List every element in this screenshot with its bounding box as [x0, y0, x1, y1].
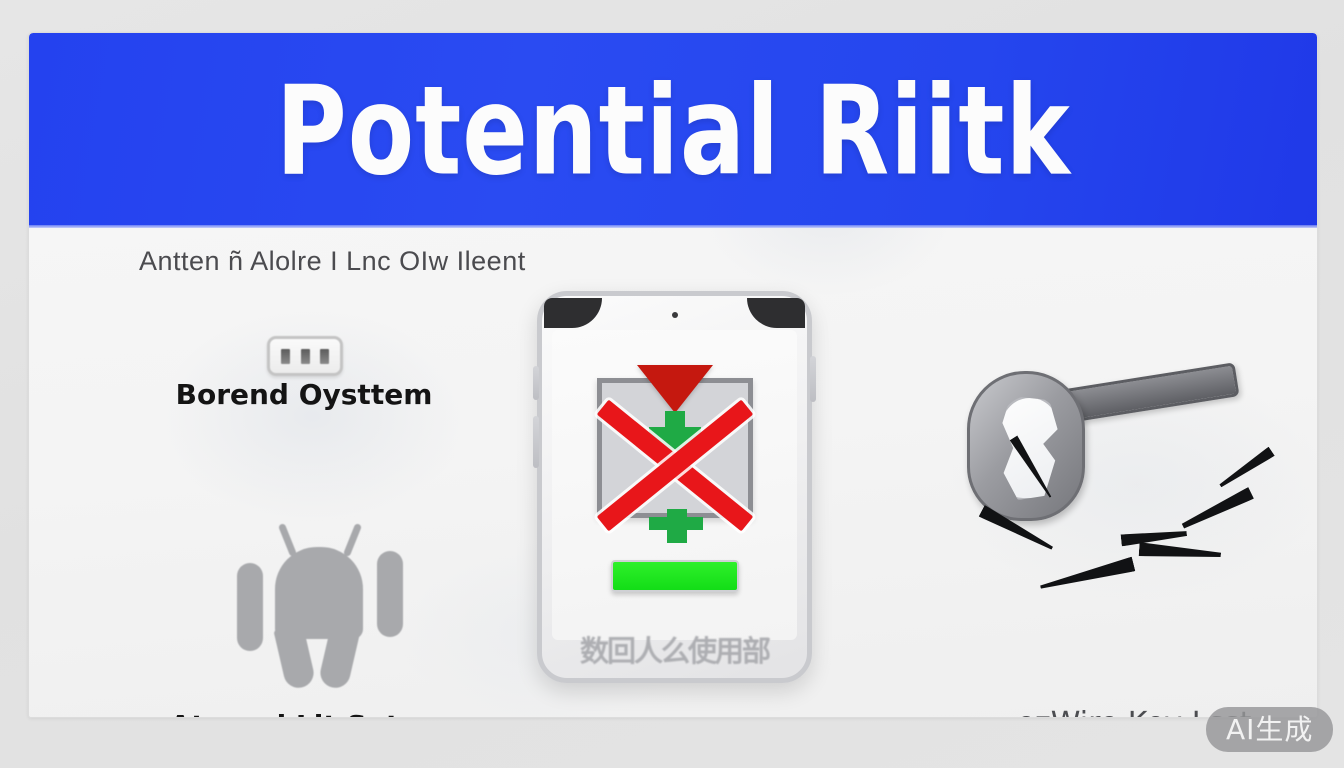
- chip-pin-1: [281, 349, 290, 364]
- page-title: Potential Riitk: [29, 79, 1317, 183]
- phone-volume-up-button[interactable]: [533, 366, 539, 400]
- phone-device: 数回人么使用部: [537, 291, 812, 683]
- slide-subtitle: Antten ñ Alolre I Lnc OIw Ileent: [139, 246, 526, 277]
- chip-icon: [267, 336, 343, 376]
- phone-power-button[interactable]: [810, 356, 816, 402]
- page-title-text: Potential Riitk: [276, 69, 1071, 192]
- key-shaft: [1064, 362, 1239, 422]
- key-shard-3: [1039, 557, 1136, 595]
- chip-pin-3: [320, 349, 329, 364]
- android-arm-right: [377, 551, 403, 637]
- red-cross-overlay-icon: [593, 392, 757, 538]
- phone-notch-left: [544, 298, 602, 328]
- phone-notch-right: [747, 298, 805, 328]
- android-body: [275, 547, 363, 639]
- key-hole: [1000, 396, 1060, 500]
- chip-pin-2: [301, 349, 310, 364]
- phone-camera-icon: [672, 312, 678, 318]
- android-robot-icon: [229, 515, 409, 685]
- android-antenna-left: [278, 523, 297, 557]
- item-label-android: Atronel Lit Soton: [109, 709, 499, 718]
- key-shard-4: [1139, 542, 1222, 562]
- phone-screen: 数回人么使用部: [552, 330, 797, 640]
- broken-key-icon: [959, 353, 1249, 533]
- slide-stage: Potential Riitk Antten ñ Alolre I Lnc OI…: [0, 0, 1344, 768]
- android-antenna-right: [343, 523, 362, 557]
- slide-card: Potential Riitk Antten ñ Alolre I Lnc OI…: [28, 32, 1318, 718]
- phone-volume-down-button[interactable]: [533, 416, 539, 468]
- android-arm-left: [237, 563, 263, 651]
- slide-header-banner: Potential Riitk: [29, 33, 1317, 228]
- key-head: [967, 371, 1085, 521]
- phone-action-button[interactable]: [611, 560, 739, 592]
- phone-screen-caption: 数回人么使用部: [552, 628, 797, 670]
- item-label-system: Borend Oysttem: [109, 378, 499, 411]
- ai-generated-watermark: AI生成: [1206, 707, 1333, 752]
